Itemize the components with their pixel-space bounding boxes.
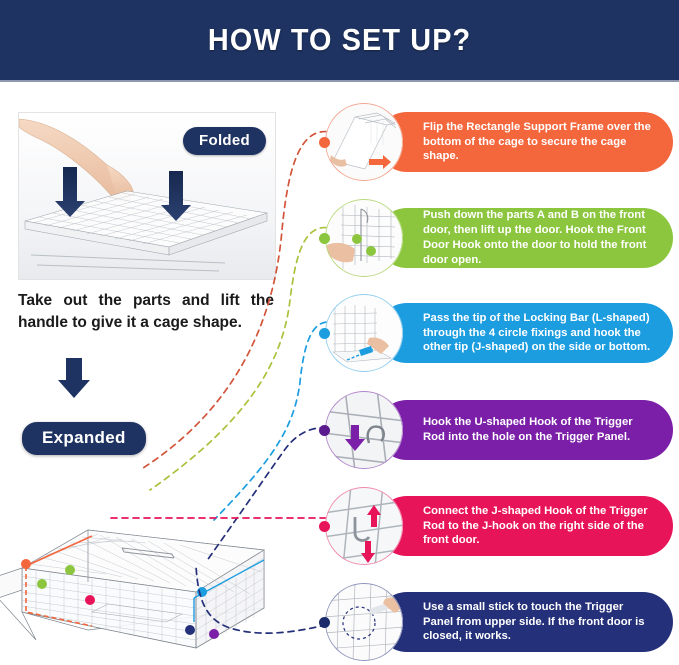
page-header: HOW TO SET UP? xyxy=(0,0,679,80)
step-1: Flip the Rectangle Support Frame over th… xyxy=(325,103,673,181)
infographic-root: HOW TO SET UP? xyxy=(0,0,679,665)
step-3-thumb-ring xyxy=(325,294,403,372)
step-2-pill[interactable]: Push down the parts A and B on the front… xyxy=(377,208,673,268)
j-shaped-hook-photo[interactable] xyxy=(325,487,403,565)
header-divider xyxy=(0,80,679,82)
step-1-pill[interactable]: Flip the Rectangle Support Frame over th… xyxy=(377,112,673,172)
step-6-text: Use a small stick to touch the Trigger P… xyxy=(377,600,673,645)
step-1-text: Flip the Rectangle Support Frame over th… xyxy=(377,120,673,165)
step-4-text: Hook the U-shaped Hook of the Trigger Ro… xyxy=(377,415,673,445)
step-3-text: Pass the tip of the Locking Bar (L-shape… xyxy=(377,311,673,356)
step-5-anchor-dot xyxy=(319,521,330,532)
step-3-anchor-dot xyxy=(319,328,330,339)
step-4-thumb-ring xyxy=(325,391,403,469)
step-3: Pass the tip of the Locking Bar (L-shape… xyxy=(325,294,673,372)
rectangle-support-frame-photo[interactable] xyxy=(325,103,403,181)
folded-badge: Folded xyxy=(183,127,266,155)
left-caption: Take out the parts and lift the handle t… xyxy=(18,290,274,335)
step-2-anchor-dot xyxy=(319,233,330,244)
down-arrow-icon xyxy=(52,356,96,400)
step-4: Hook the U-shaped Hook of the Trigger Ro… xyxy=(325,391,673,469)
step-2-text: Push down the parts A and B on the front… xyxy=(377,208,673,268)
step-6: Use a small stick to touch the Trigger P… xyxy=(325,583,673,661)
step-4-pill[interactable]: Hook the U-shaped Hook of the Trigger Ro… xyxy=(377,400,673,460)
left-column: Folded Take out the parts and lift the h… xyxy=(0,84,330,665)
trigger-panel-test-photo[interactable] xyxy=(325,583,403,661)
expanded-cage-diagram xyxy=(0,472,326,662)
step-2: Push down the parts A and B on the front… xyxy=(325,199,673,277)
locking-bar-photo[interactable] xyxy=(325,294,403,372)
step-4-anchor-dot xyxy=(319,425,330,436)
expanded-cage-illustration xyxy=(0,472,326,662)
expanded-badge: Expanded xyxy=(22,422,146,455)
step-5: Connect the J-shaped Hook of the Trigger… xyxy=(325,487,673,565)
u-shaped-hook-photo[interactable] xyxy=(325,391,403,469)
front-door-parts-photo[interactable] xyxy=(325,199,403,277)
page-title: HOW TO SET UP? xyxy=(208,22,471,58)
step-5-pill[interactable]: Connect the J-shaped Hook of the Trigger… xyxy=(377,496,673,556)
step-6-pill[interactable]: Use a small stick to touch the Trigger P… xyxy=(377,592,673,652)
step-3-pill[interactable]: Pass the tip of the Locking Bar (L-shape… xyxy=(377,303,673,363)
step-6-anchor-dot xyxy=(319,617,330,628)
step-1-thumb-ring xyxy=(325,103,403,181)
step-2-thumb-ring xyxy=(325,199,403,277)
step-1-anchor-dot xyxy=(319,137,330,148)
step-5-text: Connect the J-shaped Hook of the Trigger… xyxy=(377,504,673,549)
step-6-thumb-ring xyxy=(325,583,403,661)
folded-cage-photo: Folded xyxy=(18,112,276,280)
step-5-thumb-ring xyxy=(325,487,403,565)
